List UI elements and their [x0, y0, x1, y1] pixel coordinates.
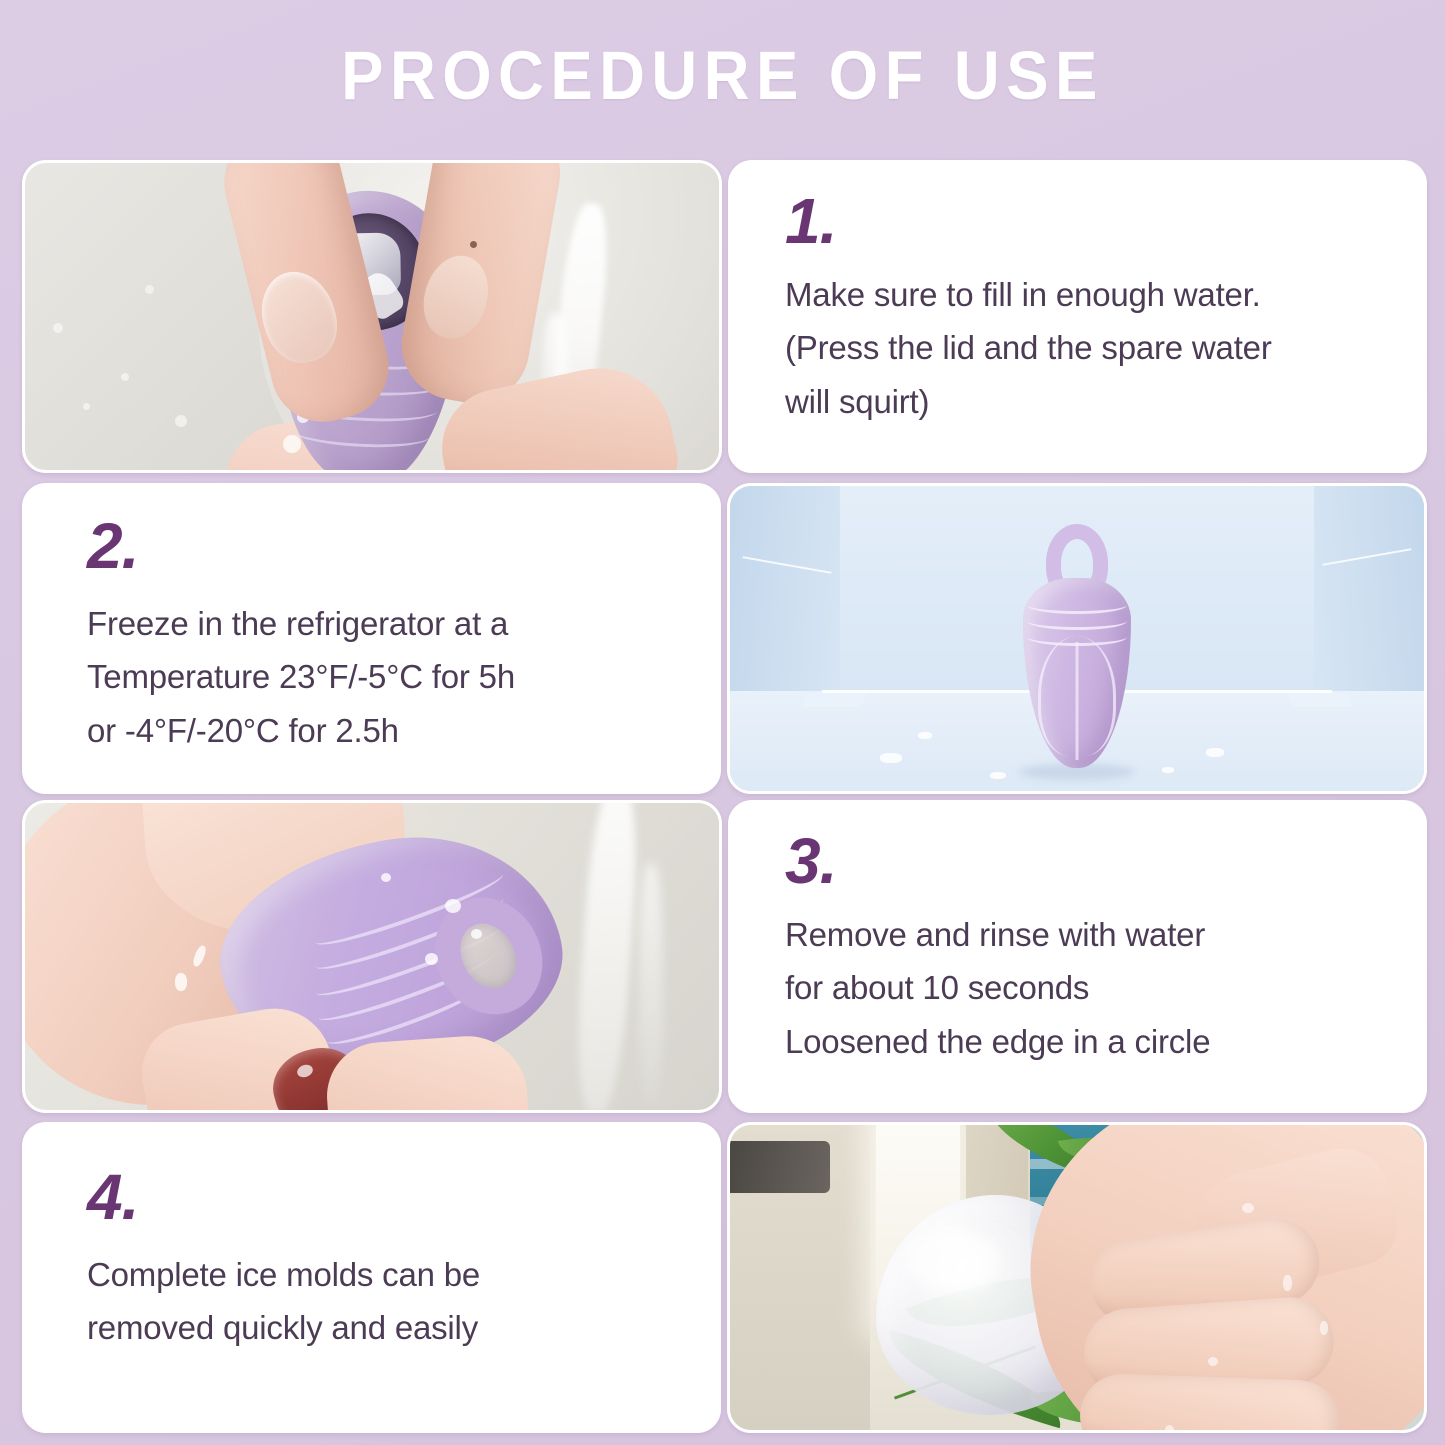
frost-speck	[1162, 767, 1174, 773]
step-description: Make sure to fill in enough water. (Pres…	[785, 268, 1394, 428]
freezer-rail	[800, 693, 867, 707]
frost-speck	[990, 772, 1006, 779]
water-sparkle	[121, 373, 129, 381]
step-line: Loosened the edge in a circle	[785, 1015, 1394, 1068]
step-4-photo	[727, 1122, 1427, 1433]
step-description: Complete ice molds can be removed quickl…	[87, 1248, 688, 1355]
step-1-photo	[22, 160, 722, 473]
step-row-2: 2. Freeze in the refrigerator at a Tempe…	[22, 483, 1427, 794]
water-droplet	[1320, 1321, 1328, 1335]
step-row-4: 4. Complete ice molds can be removed qui…	[22, 1122, 1427, 1433]
water-sparkle	[53, 323, 63, 333]
water-droplet	[175, 973, 187, 991]
step-line: removed quickly and easily	[87, 1301, 688, 1354]
step-description: Remove and rinse with water for about 10…	[785, 908, 1394, 1068]
water-droplet	[381, 873, 391, 882]
step-1-text-card: 1. Make sure to fill in enough water. (P…	[728, 160, 1427, 473]
frost-speck	[880, 753, 902, 763]
step-number: 3.	[785, 831, 1394, 892]
step-line: Make sure to fill in enough water.	[785, 268, 1394, 321]
step-line: Complete ice molds can be	[87, 1248, 688, 1301]
step-line: will squirt)	[785, 375, 1394, 428]
step-line: or -4°F/-20°C for 2.5h	[87, 704, 688, 757]
water-droplet	[445, 899, 461, 913]
step-number: 2.	[87, 516, 688, 577]
water-stream-shape	[572, 800, 643, 1113]
frost-speck	[1206, 748, 1224, 757]
water-droplet	[1242, 1203, 1254, 1213]
water-droplet	[471, 929, 482, 939]
step-row-3: 3. Remove and rinse with water for about…	[22, 800, 1427, 1113]
step-3-text-card: 3. Remove and rinse with water for about…	[728, 800, 1427, 1113]
water-droplet	[425, 953, 438, 965]
step-row-1: 1. Make sure to fill in enough water. (P…	[22, 160, 1427, 473]
frost-speck	[918, 732, 932, 739]
mold-petal-center-line	[1076, 642, 1079, 760]
water-droplet	[283, 435, 301, 453]
page-header: PROCEDURE OF USE	[0, 0, 1445, 150]
water-sparkle	[83, 403, 90, 410]
step-number: 4.	[87, 1167, 688, 1228]
water-sparkle	[175, 415, 187, 427]
background-dark-strip	[730, 1141, 830, 1193]
step-description: Freeze in the refrigerator at a Temperat…	[87, 597, 688, 757]
step-line: Freeze in the refrigerator at a	[87, 597, 688, 650]
infographic-page: PROCEDURE OF USE	[0, 0, 1445, 1445]
page-title: PROCEDURE OF USE	[341, 36, 1104, 115]
step-line: Remove and rinse with water	[785, 908, 1394, 961]
step-line: Temperature 23°F/-5°C for 5h	[87, 650, 688, 703]
ice-highlight	[908, 1229, 1000, 1293]
freezer-rail	[1286, 693, 1353, 707]
step-line: for about 10 seconds	[785, 961, 1394, 1014]
water-droplet	[1283, 1275, 1292, 1291]
finger-shape	[1079, 1372, 1342, 1433]
step-3-photo	[22, 800, 722, 1113]
step-number: 1.	[785, 191, 1394, 252]
water-droplet	[1208, 1357, 1218, 1366]
water-stream-secondary-shape	[639, 863, 663, 1103]
skin-mark	[470, 241, 477, 248]
step-line: (Press the lid and the spare water	[785, 321, 1394, 374]
step-2-photo	[727, 483, 1427, 794]
water-droplet	[1165, 1425, 1174, 1433]
step-2-text-card: 2. Freeze in the refrigerator at a Tempe…	[22, 483, 721, 794]
water-sparkle	[145, 285, 154, 294]
step-4-text-card: 4. Complete ice molds can be removed qui…	[22, 1122, 721, 1433]
